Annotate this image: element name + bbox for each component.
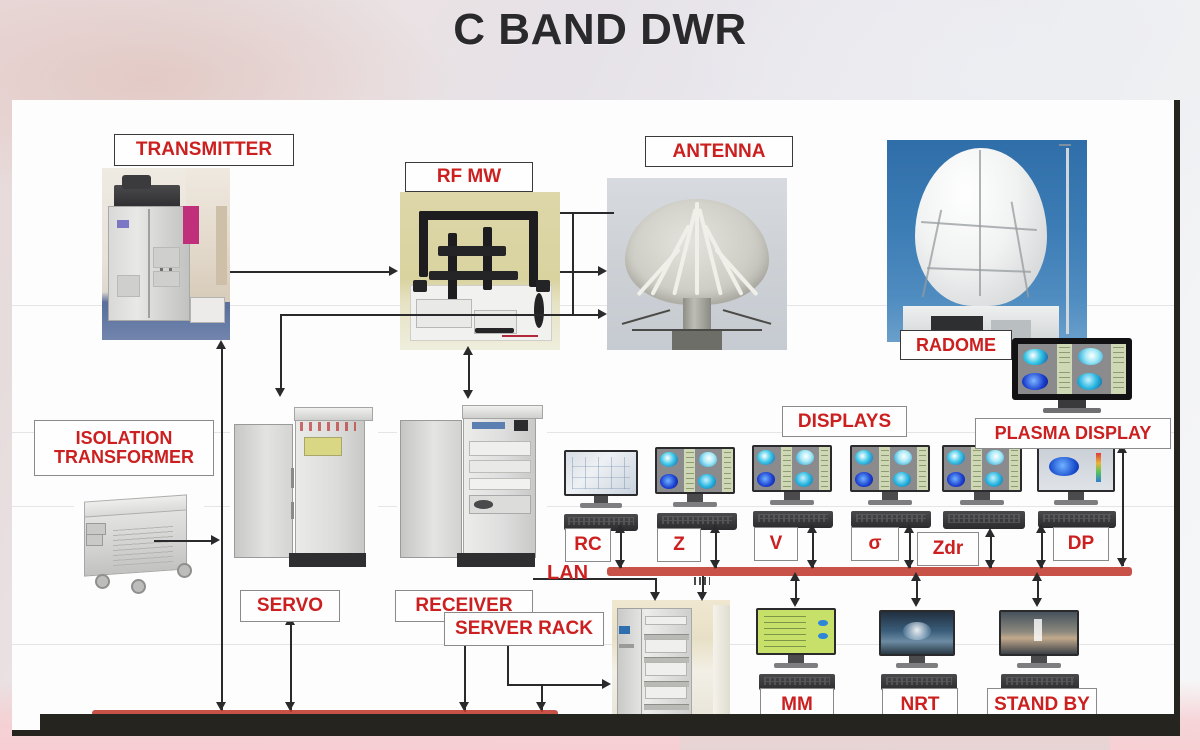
connector-rfmw-to-antenna — [560, 271, 602, 273]
diagram-panel: TRANSMITTER RF MW — [12, 100, 1174, 730]
label-antenna: ANTENNA — [645, 136, 793, 167]
plasma-display-photo — [1012, 338, 1132, 416]
label-station-z: Z — [657, 528, 701, 562]
antenna-photo — [607, 178, 787, 350]
arrow-nrt-lan-up — [911, 572, 921, 581]
radome-photo — [887, 140, 1087, 342]
label-transmitter: TRANSMITTER — [114, 134, 294, 166]
arrow-rfmw-receiver-down — [463, 390, 473, 399]
arrow-zdr-lan-up — [985, 528, 995, 537]
label-lan-text: LAN — [547, 562, 588, 584]
arrow-standby-lan-down — [1032, 598, 1042, 607]
connector-rfmw-right-stub — [560, 212, 614, 214]
label-transmitter-text: TRANSMITTER — [136, 140, 272, 160]
label-station-standby-text: STAND BY — [994, 695, 1090, 715]
monitor-nrt — [879, 610, 955, 672]
label-station-dp-text: DP — [1068, 534, 1094, 554]
label-station-mm-text: MM — [781, 695, 813, 715]
label-plasma-display: PLASMA DISPLAY — [975, 418, 1171, 449]
arrow-servo-drop — [275, 388, 285, 397]
lan-bus — [607, 567, 1132, 576]
arrow-sigma-lan-down — [904, 560, 914, 569]
arrow-rfmw-receiver-up — [463, 346, 473, 355]
label-plasma-display-text: PLASMA DISPLAY — [995, 424, 1152, 443]
rf-mw-photo — [400, 192, 560, 350]
arrow-v-lan-up — [807, 524, 817, 533]
arrow-transmitter-power — [216, 340, 226, 349]
arrow-tx-to-rfmw — [389, 266, 398, 276]
transmitter-photo — [102, 168, 230, 340]
arrow-dp-lan-down — [1036, 560, 1046, 569]
label-station-zdr-text: Zdr — [933, 539, 964, 559]
monitor-mm — [756, 608, 836, 672]
label-station-rc-text: RC — [574, 535, 601, 555]
monitor-dp — [1037, 445, 1115, 509]
arrow-mm-lan-down — [790, 598, 800, 607]
monitor-rc — [564, 450, 638, 512]
label-displays: DISPLAYS — [782, 406, 907, 437]
arrow-rack-drop — [650, 592, 660, 601]
receiver-cabinet-photo — [397, 400, 547, 570]
label-station-zdr: Zdr — [917, 532, 979, 566]
panel-bottom-bar — [40, 714, 1174, 730]
arrow-z-lan-down — [710, 560, 720, 569]
arrow-v-lan-down — [807, 560, 817, 569]
arrow-lan-to-rack — [697, 592, 707, 601]
connector-rfmw-right-down — [572, 212, 574, 316]
arrow-dp-lan-up — [1036, 524, 1046, 533]
label-radome: RADOME — [900, 330, 1012, 360]
label-station-nrt-text: NRT — [900, 695, 939, 715]
label-antenna-text: ANTENNA — [673, 142, 766, 162]
label-station-v-text: V — [770, 534, 783, 554]
label-radome-text: RADOME — [916, 336, 996, 355]
arrow-nrt-lan-down — [911, 598, 921, 607]
monitor-sigma — [850, 445, 930, 509]
label-station-z-text: Z — [673, 535, 685, 555]
monitor-zdr — [942, 445, 1022, 509]
label-displays-text: DISPLAYS — [798, 412, 891, 432]
arrow-rc-lan-up — [615, 524, 625, 533]
connector-rackbox-right — [507, 684, 603, 686]
label-station-sigma-text: σ — [869, 534, 882, 554]
server-rack-photo — [612, 600, 730, 730]
label-isolation-transformer-line2: TRANSFORMER — [54, 448, 194, 467]
connector-isolation-to-bus — [154, 540, 212, 542]
keyboard-dp — [1038, 511, 1116, 528]
connector-servo-drop — [280, 314, 282, 390]
label-server-rack: SERVER RACK — [444, 612, 604, 646]
arrow-isolation-to-bus — [211, 535, 220, 545]
connector-bus-to-servo — [280, 314, 572, 316]
servo-cabinet-photo — [230, 400, 378, 570]
label-station-rc: RC — [565, 528, 611, 562]
label-server-rack-text: SERVER RACK — [455, 619, 593, 639]
arrow-plasma-lan-down — [1117, 558, 1127, 567]
arrow-rackbox-to-rack — [602, 679, 611, 689]
arrow-z-lan-up — [710, 524, 720, 533]
arrow-sigma-lan-up — [904, 524, 914, 533]
label-isolation-transformer: ISOLATION TRANSFORMER — [34, 420, 214, 476]
keyboard-sigma — [851, 511, 931, 528]
arrow-zdr-lan-down — [985, 560, 995, 569]
monitor-v — [752, 445, 832, 509]
label-station-dp: DP — [1053, 527, 1109, 561]
page-title: C BAND DWR — [0, 2, 1200, 60]
arrow-standby-lan-up — [1032, 572, 1042, 581]
lan-tap-marker — [694, 577, 710, 585]
arrow-rc-lan-down — [615, 560, 625, 569]
isolation-transformer-photo — [74, 482, 204, 596]
arrow-rfmw-to-antenna — [598, 266, 607, 276]
label-servo: SERVO — [240, 590, 340, 622]
keyboard-v — [753, 511, 833, 528]
label-rf-mw-text: RF MW — [437, 167, 501, 187]
label-station-v: V — [754, 527, 798, 561]
monitor-standby — [999, 610, 1079, 672]
connector-plasma-lan — [1122, 452, 1124, 566]
connector-tx-to-rfmw — [230, 271, 390, 273]
keyboard-zdr — [943, 511, 1025, 529]
label-lan: LAN — [547, 562, 588, 585]
label-isolation-transformer-line1: ISOLATION — [76, 429, 173, 448]
label-rf-mw: RF MW — [405, 162, 533, 192]
connector-transmitter-power — [221, 348, 223, 711]
arrow-mm-lan-up — [790, 572, 800, 581]
connector-rackbox-down — [507, 646, 509, 684]
monitor-z — [655, 447, 735, 511]
arrow-to-antenna-lower — [598, 309, 607, 319]
connector-servo-power — [290, 624, 292, 712]
label-station-sigma: σ — [851, 527, 899, 561]
label-servo-text: SERVO — [257, 596, 323, 616]
